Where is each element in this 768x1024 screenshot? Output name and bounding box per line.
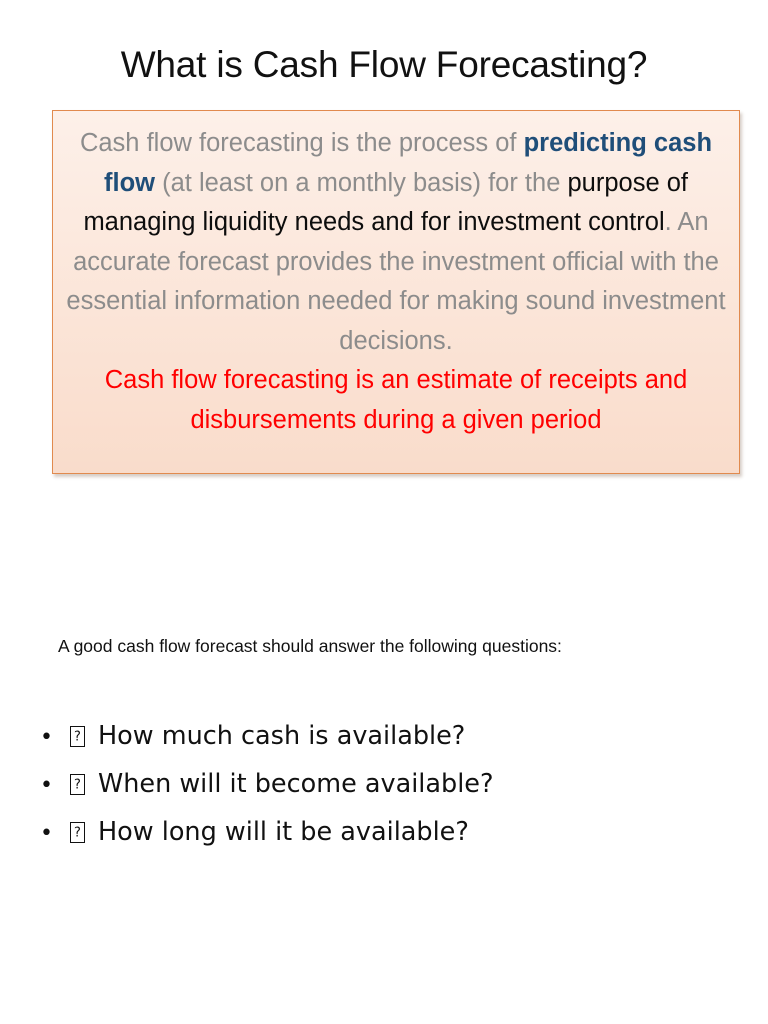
callout-red-statement: Cash flow forecasting is an estimate of … [65,361,727,440]
leadin-text: A good cash flow forecast should answer … [58,636,738,658]
callout-segment-parenthetical: (at least on a monthly basis) for the [155,169,567,197]
callout-paragraph: Cash flow forecasting is the process of … [65,124,727,361]
list-item-label: How much cash is available? [98,712,465,760]
bullet-point-icon: • [40,810,70,858]
list-item-label: When will it become available? [98,760,494,808]
list-item: • How long will it be available? [40,808,740,856]
missing-glyph-box-icon [70,822,85,843]
missing-glyph-box-icon [70,774,85,795]
missing-glyph-box-icon [70,726,85,747]
callout-segment-intro: Cash flow forecasting is the process of [80,129,524,157]
bullet-point-icon: • [40,762,70,810]
list-item: • How much cash is available? [40,712,740,760]
callout-box: Cash flow forecasting is the process of … [52,110,740,474]
list-item: • When will it become available? [40,760,740,808]
list-item-label: How long will it be available? [98,808,469,856]
page-title: What is Cash Flow Forecasting? [0,44,768,87]
bullet-point-icon: • [40,714,70,762]
questions-bullet-list: • How much cash is available? • When wil… [40,712,740,856]
